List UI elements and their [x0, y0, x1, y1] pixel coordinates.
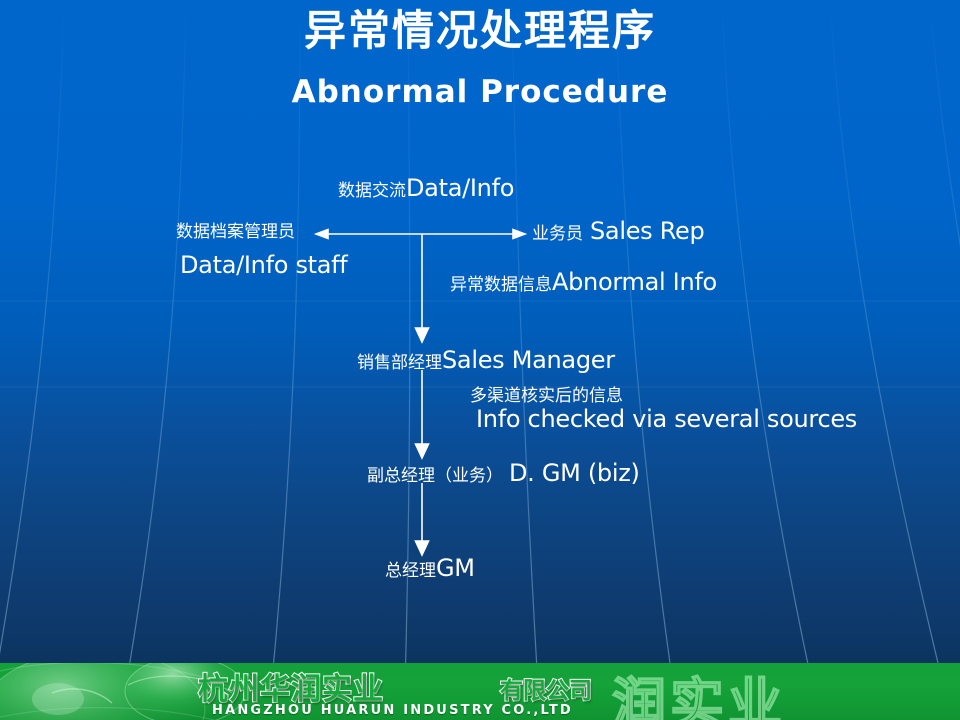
- footer-watermark-text: 润实业: [612, 663, 786, 720]
- edge-label-abnormal-info-cn: 异常数据信息: [450, 277, 552, 294]
- presentation-slide: 异常情况处理程序 Abnormal Procedure: [0, 0, 960, 720]
- edge-label-checked-info-cn: 多渠道核实后的信息: [470, 388, 623, 405]
- node-sales-manager-en: Sales Manager: [442, 348, 615, 372]
- slide-title-english: Abnormal Procedure: [0, 74, 960, 110]
- node-deputy-gm-cn: 副总经理（业务）: [367, 468, 503, 485]
- node-data-info-staff-en: Data/Info staff: [180, 253, 347, 277]
- node-deputy-gm-en: D. GM (biz): [503, 461, 640, 485]
- edge-label-data-exchange-en: Data/Info: [406, 176, 514, 200]
- company-footer-banner: 润实业 杭州华润实业 有限公司 HANGZHOU HUARUN INDUSTRY…: [0, 663, 960, 720]
- company-name-chinese: 杭州华润实业: [198, 664, 384, 708]
- arrow-escalate-gm: [416, 483, 429, 555]
- edge-label-checked-info-en: Info checked via several sources: [476, 407, 857, 431]
- node-general-manager-en: GM: [436, 556, 475, 580]
- edge-label-abnormal-info: 异常数据信息Abnormal Info: [450, 270, 717, 294]
- company-name-english: HANGZHOU HUARUN INDUSTRY CO.,LTD: [212, 703, 573, 718]
- node-general-manager-cn: 总经理: [385, 563, 436, 580]
- node-sales-manager: 销售部经理Sales Manager: [357, 348, 615, 372]
- node-sales-rep-cn: 业务员: [532, 226, 583, 243]
- node-sales-rep: 业务员Sales Rep: [532, 219, 704, 243]
- edge-label-data-exchange-cn: 数据交流: [338, 183, 406, 200]
- node-sales-manager-cn: 销售部经理: [357, 355, 442, 372]
- edge-label-abnormal-info-en: Abnormal Info: [552, 270, 717, 294]
- company-name-chinese-suffix: 有限公司: [500, 671, 592, 705]
- node-general-manager: 总经理GM: [385, 556, 475, 580]
- arrow-abnormal-info: [416, 234, 429, 342]
- arrow-checked-info: [416, 370, 429, 458]
- node-sales-rep-en: Sales Rep: [583, 219, 704, 243]
- node-deputy-gm: 副总经理（业务）D. GM (biz): [367, 461, 640, 485]
- edge-label-data-exchange: 数据交流Data/Info: [338, 176, 514, 200]
- arrow-data-exchange: [316, 230, 525, 239]
- node-data-info-staff-cn: 数据档案管理员: [176, 224, 295, 241]
- slide-title-chinese: 异常情况处理程序: [0, 8, 960, 54]
